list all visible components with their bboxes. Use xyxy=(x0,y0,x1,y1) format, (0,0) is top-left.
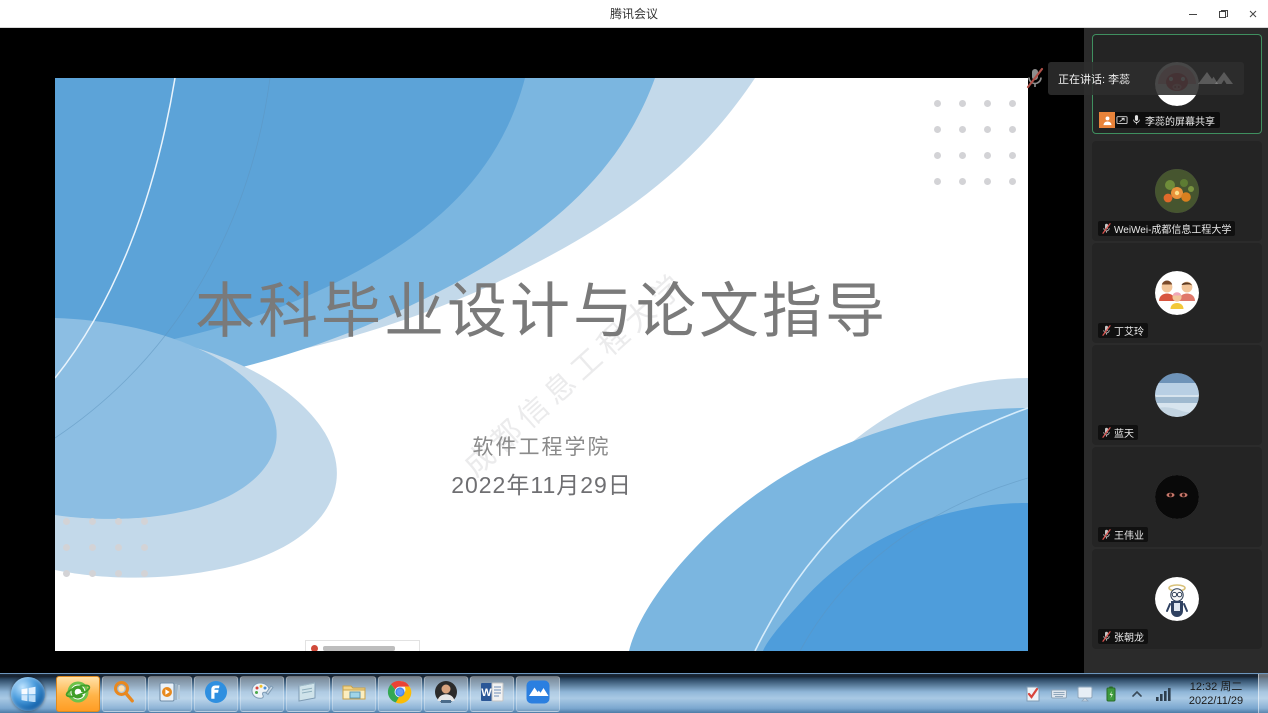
taskbar-clock[interactable]: 12:32 周二 2022/11/29 xyxy=(1178,674,1254,713)
participant-name: WeiWei-成都信息工程大学 xyxy=(1114,221,1231,236)
media-player-icon xyxy=(157,679,183,710)
avatar xyxy=(1155,373,1199,417)
flash-icon xyxy=(203,679,229,710)
show-hidden-chevron-icon[interactable] xyxy=(1128,685,1146,703)
file-explorer-icon xyxy=(341,679,367,710)
show-hidden-icons-icon[interactable] xyxy=(1076,685,1094,703)
start-button[interactable] xyxy=(4,674,52,713)
slide-subtitle-date: 2022年11月29日 xyxy=(55,466,1028,500)
speaking-toast-text: 正在讲话: 李蕊 xyxy=(1058,71,1130,87)
participant-name-chip: 蓝天 xyxy=(1098,425,1138,440)
taskbar-items[interactable]: W xyxy=(56,675,560,713)
mic-muted-icon xyxy=(1025,66,1045,90)
close-button[interactable] xyxy=(1238,0,1268,28)
user-icon xyxy=(1099,112,1115,128)
participant-tile[interactable]: 王伟业 xyxy=(1092,447,1262,547)
taskbar-item-flash[interactable] xyxy=(194,676,238,712)
taskbar-item-tencent-meeting[interactable] xyxy=(516,676,560,712)
screen-share-icon xyxy=(1115,112,1129,128)
clock-time: 12:32 周二 xyxy=(1190,680,1243,694)
ppt-notification-strip xyxy=(305,640,420,651)
slide-decoration xyxy=(55,78,1028,651)
avatar xyxy=(1155,169,1199,213)
participant-name: 李蕊的屏幕共享 xyxy=(1143,113,1220,128)
slide-title: 本科毕业设计与论文指导 xyxy=(55,263,1028,350)
participant-name-chip: 张朝龙 xyxy=(1098,629,1148,644)
tencent-meeting-logo-icon xyxy=(1196,69,1236,87)
show-desktop-button[interactable] xyxy=(1258,674,1268,713)
window-titlebar: 腾讯会议 xyxy=(0,0,1268,28)
paint-icon xyxy=(249,679,275,710)
windows-taskbar[interactable]: W xyxy=(0,673,1268,713)
word-icon: W xyxy=(479,679,505,710)
taskbar-item-chrome[interactable] xyxy=(378,676,422,712)
taskbar-item-notes[interactable] xyxy=(286,676,330,712)
window-title: 腾讯会议 xyxy=(0,0,1268,28)
taskbar-item-word[interactable]: W xyxy=(470,676,514,712)
mic-icon xyxy=(1129,112,1143,128)
windows-logo-icon xyxy=(11,677,45,711)
ime-icon[interactable] xyxy=(1050,685,1068,703)
shared-screen-stage: 成都信息工程大学 本科毕业设计与论文指导 软件工程学院 2022年11月29日 xyxy=(0,28,1084,673)
presentation-slide: 成都信息工程大学 本科毕业设计与论文指导 软件工程学院 2022年11月29日 xyxy=(55,78,1028,651)
notes-icon xyxy=(295,679,321,710)
participant-name-chip: 丁艾玲 xyxy=(1098,323,1148,338)
security-icon[interactable] xyxy=(1024,685,1042,703)
taskbar-item-search[interactable] xyxy=(102,676,146,712)
mic-muted-icon xyxy=(1102,529,1111,540)
svg-text:W: W xyxy=(481,687,492,699)
participant-name-chip: 王伟业 xyxy=(1098,527,1148,542)
mic-muted-icon xyxy=(1102,325,1111,336)
participant-name: 张朝龙 xyxy=(1114,629,1144,644)
speaking-toast: 正在讲话: 李蕊 xyxy=(1048,62,1244,95)
mic-muted-icon xyxy=(1102,631,1111,642)
slide-subtitle-org: 软件工程学院 xyxy=(55,431,1028,461)
taskbar-item-internet-explorer[interactable] xyxy=(56,676,100,712)
internet-explorer-icon xyxy=(65,679,91,710)
dot-grid-top-right xyxy=(934,100,1028,204)
minimize-button[interactable] xyxy=(1178,0,1208,28)
taskbar-item-file-explorer[interactable] xyxy=(332,676,376,712)
taskbar-item-wechat[interactable] xyxy=(424,676,468,712)
participant-name: 王伟业 xyxy=(1114,527,1144,542)
chrome-icon xyxy=(387,679,413,710)
system-tray[interactable] xyxy=(1024,674,1172,713)
participant-tile[interactable]: 蓝天 xyxy=(1092,345,1262,445)
taskbar-item-paint[interactable] xyxy=(240,676,284,712)
signal-icon[interactable] xyxy=(1154,685,1172,703)
participant-panel[interactable]: 李蕊的屏幕共享 xyxy=(1084,28,1268,673)
mic-muted-icon xyxy=(1102,223,1111,234)
participant-tile[interactable]: 张朝龙 xyxy=(1092,549,1262,649)
avatar xyxy=(1155,271,1199,315)
avatar xyxy=(1155,577,1199,621)
participant-tile[interactable]: 丁艾玲 xyxy=(1092,243,1262,343)
window-controls xyxy=(1178,0,1268,28)
wechat-icon xyxy=(433,679,459,710)
participant-tile[interactable]: WeiWei-成都信息工程大学 xyxy=(1092,141,1262,241)
dot-grid-bottom-left xyxy=(63,518,167,596)
taskbar-item-media-player[interactable] xyxy=(148,676,192,712)
tencent-meeting-icon xyxy=(525,679,551,710)
participant-name: 丁艾玲 xyxy=(1114,323,1144,338)
avatar xyxy=(1155,475,1199,519)
participant-name-chip: WeiWei-成都信息工程大学 xyxy=(1098,221,1235,236)
mic-muted-icon xyxy=(1102,427,1111,438)
restore-button[interactable] xyxy=(1208,0,1238,28)
screen-root: 腾讯会议 xyxy=(0,0,1268,713)
participant-name: 蓝天 xyxy=(1114,425,1134,440)
clock-date: 2022/11/29 xyxy=(1189,694,1243,708)
share-status-chip: 李蕊的屏幕共享 xyxy=(1099,112,1220,128)
search-icon xyxy=(111,679,137,710)
battery-icon[interactable] xyxy=(1102,685,1120,703)
